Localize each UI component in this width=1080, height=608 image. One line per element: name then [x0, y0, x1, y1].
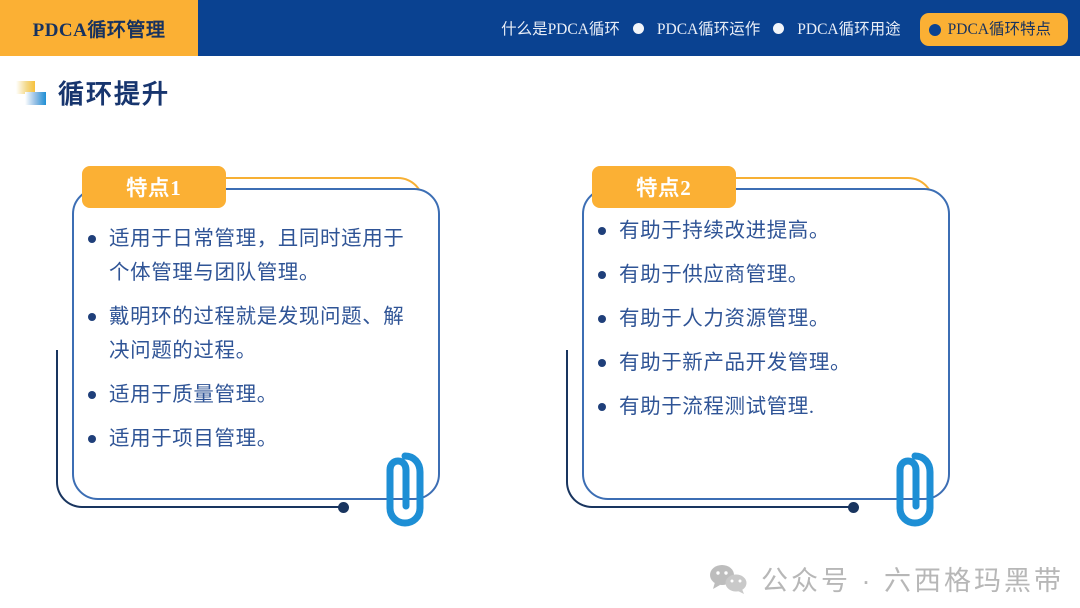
list-item: 戴明环的过程就是发现问题、解决问题的过程。 [88, 300, 414, 368]
list-item: 适用于质量管理。 [88, 378, 414, 412]
list-item: 有助于持续改进提高。 [598, 214, 924, 248]
list-item: 有助于流程测试管理. [598, 390, 924, 424]
list-item: 有助于供应商管理。 [598, 258, 924, 292]
navy-endpoint-dot-icon [338, 502, 349, 513]
card-badge-2: 特点2 [592, 166, 736, 208]
card-badge-1: 特点1 [82, 166, 226, 208]
feature-list-1: 适用于日常管理，且同时适用于个体管理与团队管理。 戴明环的过程就是发现问题、解决… [88, 222, 414, 466]
list-item: 有助于人力资源管理。 [598, 302, 924, 336]
watermark: 公众号 · 六西格玛黑带 [709, 559, 1064, 598]
feature-list-2: 有助于持续改进提高。 有助于供应商管理。 有助于人力资源管理。 有助于新产品开发… [598, 214, 924, 434]
paperclip-icon [356, 448, 430, 528]
feature-card-2: 特点2 有助于持续改进提高。 有助于供应商管理。 有助于人力资源管理。 有助于新… [576, 160, 956, 500]
watermark-text: 公众号 · 六西格玛黑带 [761, 559, 1064, 598]
cards-container: 特点1 适用于日常管理，且同时适用于个体管理与团队管理。 戴明环的过程就是发现问… [0, 0, 1080, 608]
slide: PDCA循环管理 什么是PDCA循环 PDCA循环运作 PDCA循环用途 PDC… [0, 0, 1080, 608]
list-item: 适用于日常管理，且同时适用于个体管理与团队管理。 [88, 222, 414, 290]
list-item: 有助于新产品开发管理。 [598, 346, 924, 380]
feature-card-1: 特点1 适用于日常管理，且同时适用于个体管理与团队管理。 戴明环的过程就是发现问… [66, 160, 446, 500]
paperclip-icon [866, 448, 940, 528]
navy-endpoint-dot-icon [848, 502, 859, 513]
wechat-icon [709, 563, 749, 595]
